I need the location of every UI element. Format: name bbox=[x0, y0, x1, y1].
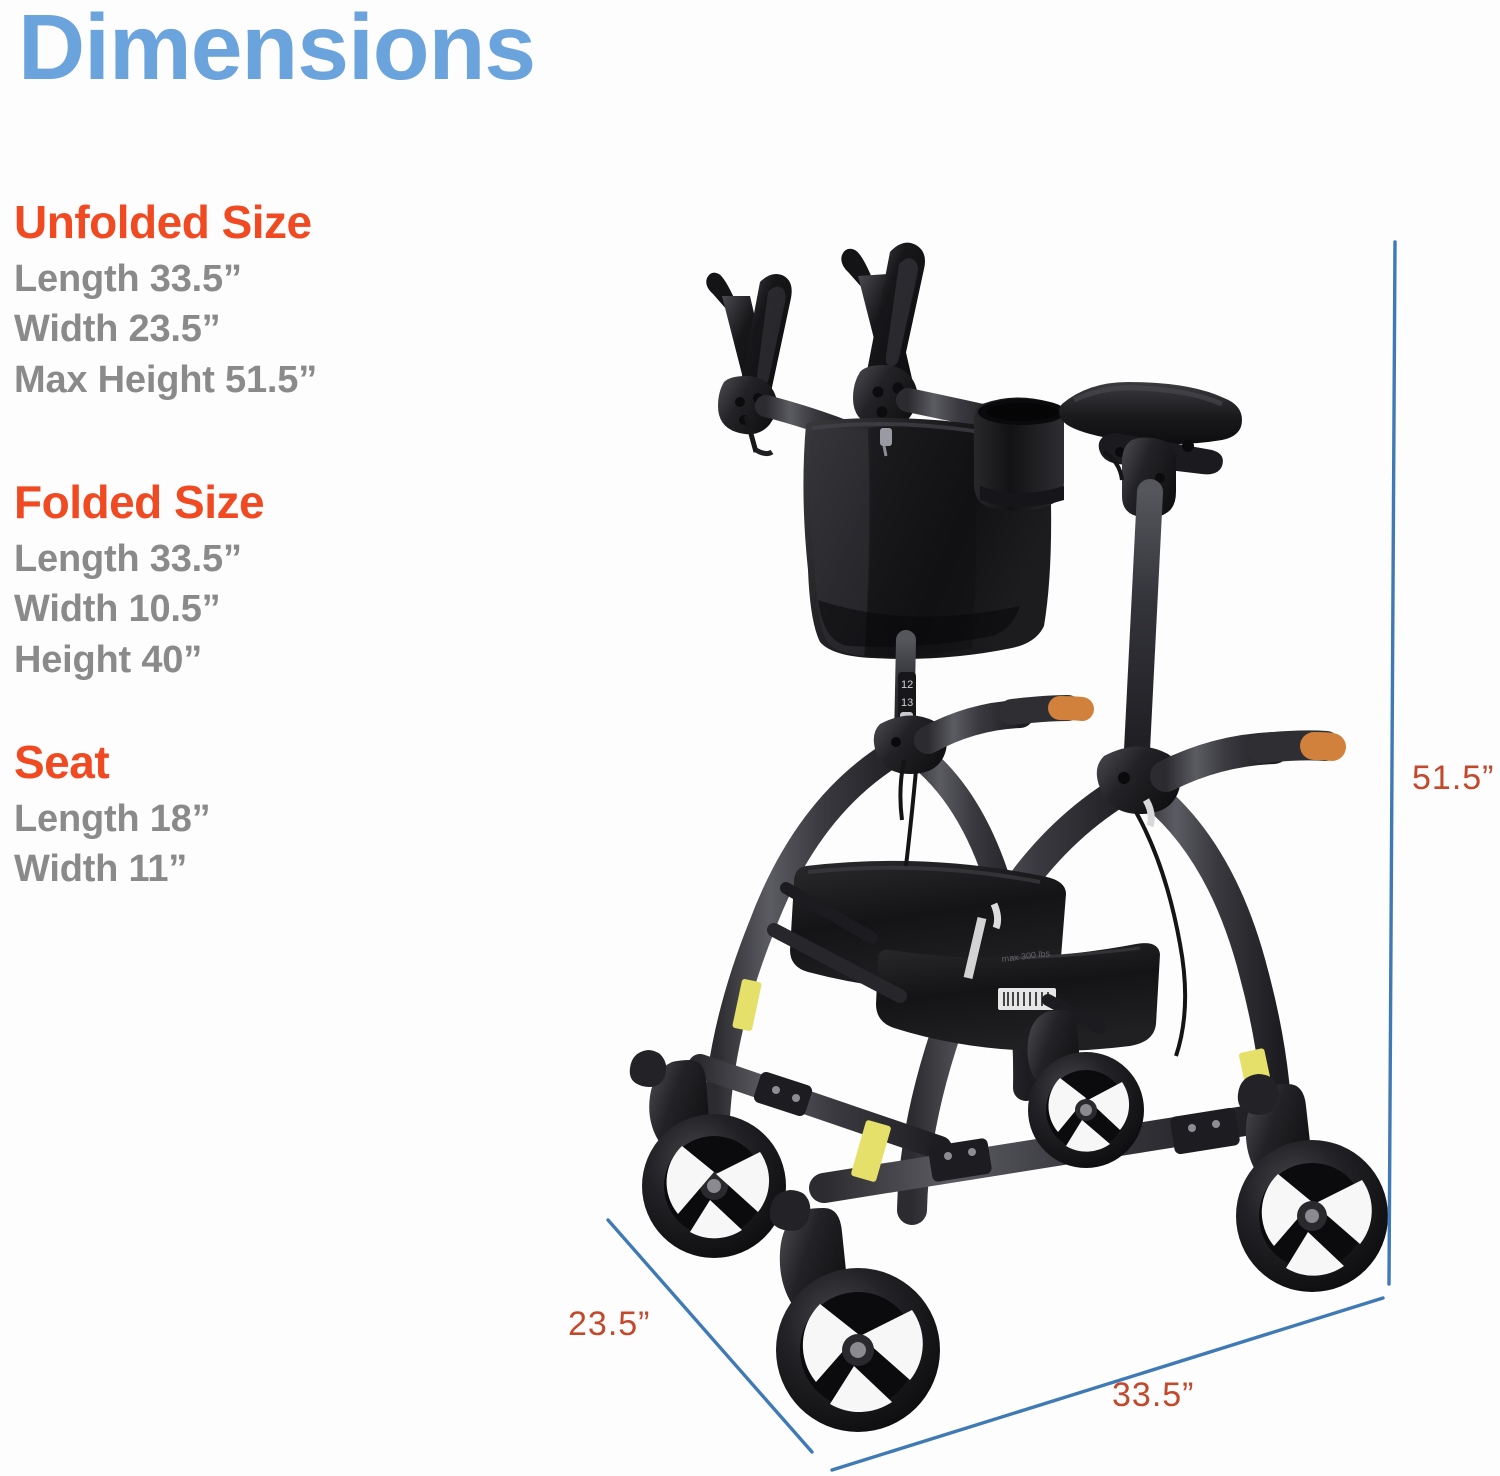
dimension-label-depth: 33.5” bbox=[1112, 1376, 1195, 1415]
dimension-label-width: 23.5” bbox=[568, 1305, 651, 1344]
dimension-label-max-height: 51.5” bbox=[1412, 759, 1495, 798]
dimension-line-overlay bbox=[0, 0, 1500, 1476]
dimension-line-height bbox=[1389, 242, 1395, 1284]
dimensions-infographic: Dimensions Unfolded Size Length 33.5” Wi… bbox=[0, 0, 1500, 1476]
dimension-line-depth bbox=[832, 1298, 1383, 1470]
